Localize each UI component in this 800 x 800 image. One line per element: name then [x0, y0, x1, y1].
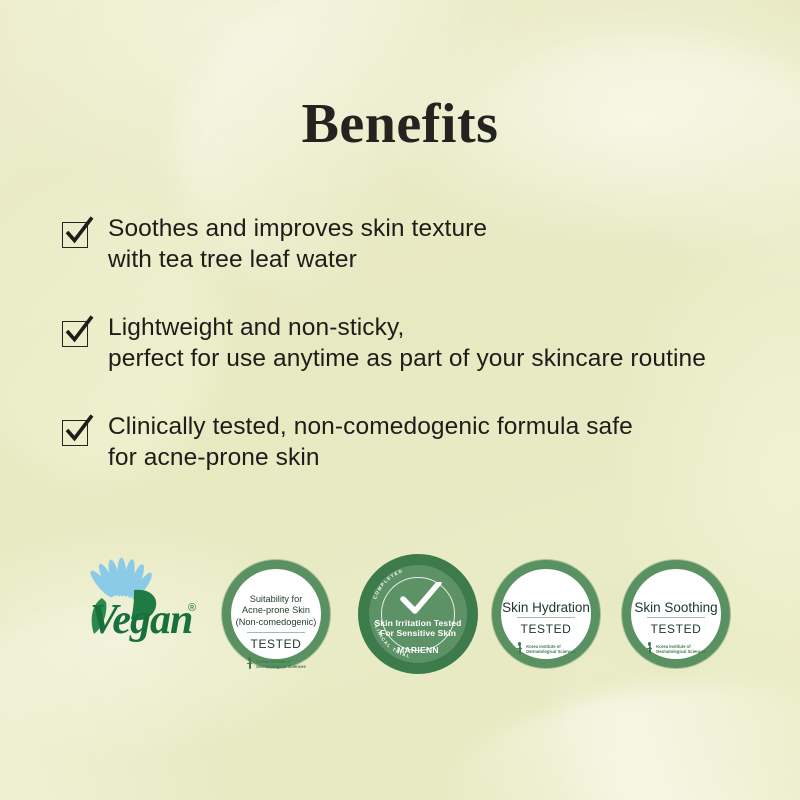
badge-skin-soothing: Korea Institute of Dermatological Scienc…: [622, 560, 730, 668]
institute-figure-icon: [646, 642, 653, 655]
certification-badge-row: Vegan ® Korea Institute of Dermatologica…: [0, 552, 800, 682]
institute-mark: Korea Institute of Dermatological Scienc…: [631, 642, 721, 655]
list-item-text: Soothes and improves skin texture with t…: [108, 213, 487, 275]
benefit-line: with tea tree leaf water: [108, 244, 487, 275]
divider: [517, 617, 575, 618]
checkbox-checked-icon: [62, 420, 88, 446]
institute-figure-icon: [246, 657, 253, 670]
divider: [647, 617, 705, 618]
checkbox-checked-icon: [62, 222, 88, 248]
check-mark-icon: [400, 582, 442, 616]
benefit-line: Lightweight and non-sticky,: [108, 312, 706, 343]
institute-name: Korea Institute of Dermatological Scienc…: [256, 659, 306, 669]
badge-line: Suitability for: [231, 594, 321, 605]
list-item: Clinically tested, non-comedogenic formu…: [62, 411, 762, 473]
list-item: Lightweight and non-sticky, perfect for …: [62, 312, 762, 374]
badge-line: (Non-comedogenic): [231, 617, 321, 628]
page-title: Benefits: [0, 92, 800, 156]
list-item-text: Lightweight and non-sticky, perfect for …: [108, 312, 706, 374]
benefit-line: Clinically tested, non-comedogenic formu…: [108, 411, 633, 442]
badge-status: TESTED: [231, 637, 321, 651]
badge-line: Skin Soothing: [631, 602, 721, 613]
benefits-list: Soothes and improves skin texture with t…: [62, 213, 762, 510]
badge-line: Skin Irritation Tested: [369, 618, 467, 628]
badge-acne-prone-suitability: Korea Institute of Dermatological Scienc…: [222, 560, 330, 668]
institute-name: Korea Institute of Dermatological Scienc…: [656, 644, 706, 654]
brand-mark: MARIENN: [369, 645, 467, 655]
institute-name: Korea Institute of Dermatological Scienc…: [526, 644, 576, 654]
vegan-label: Vegan: [90, 596, 192, 644]
institute-mark: Korea Institute of Dermatological Scienc…: [501, 642, 591, 655]
checkbox-checked-icon: [62, 321, 88, 347]
benefit-line: for acne-prone skin: [108, 442, 633, 473]
badge-line: For Sensitive Skin: [369, 628, 467, 638]
badge-status: TESTED: [501, 622, 591, 636]
vegan-certification-logo: Vegan ®: [60, 558, 200, 668]
benefit-line: Soothes and improves skin texture: [108, 213, 487, 244]
badge-line: Acne-prone Skin: [231, 605, 321, 616]
badge-line: Skin Hydration: [501, 602, 591, 613]
list-item: Soothes and improves skin texture with t…: [62, 213, 762, 275]
badge-skin-hydration: Korea Institute of Dermatological Scienc…: [492, 560, 600, 668]
list-item-text: Clinically tested, non-comedogenic formu…: [108, 411, 633, 473]
institute-figure-icon: [516, 642, 523, 655]
divider: [247, 632, 305, 633]
badge-skin-irritation-clinical-trial: COMPLETED CLINICAL TRIAL Skin Irritation…: [358, 554, 478, 674]
benefit-line: perfect for use anytime as part of your …: [108, 343, 706, 374]
benefits-poster: Benefits Soothes and improves skin textu…: [0, 0, 800, 800]
registered-mark: ®: [188, 602, 196, 614]
institute-mark: Korea Institute of Dermatological Scienc…: [231, 657, 321, 670]
badge-status: TESTED: [631, 622, 721, 636]
